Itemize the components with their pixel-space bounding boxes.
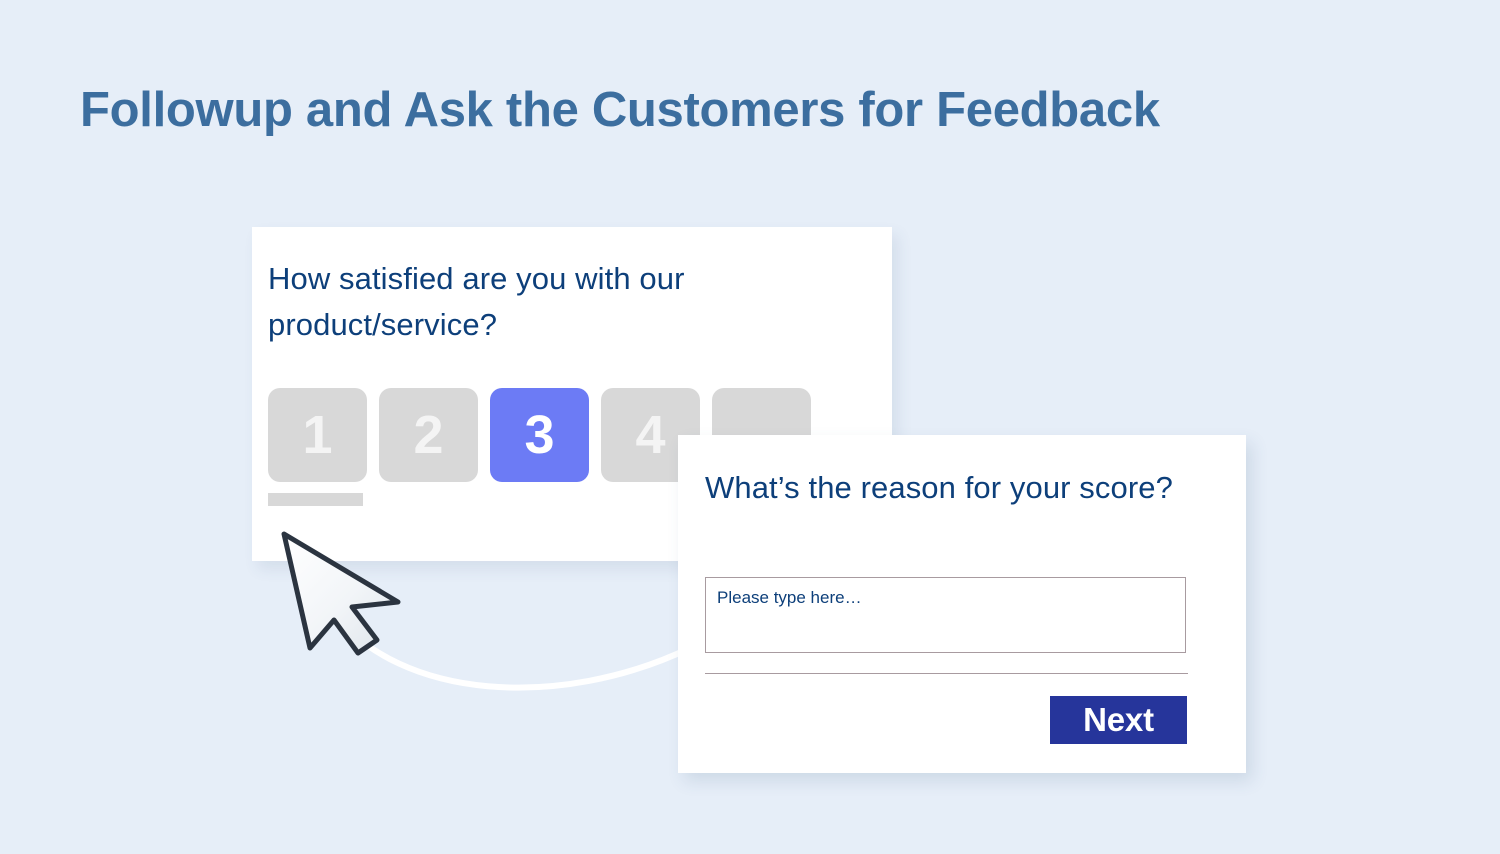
next-button[interactable]: Next — [1050, 696, 1187, 744]
reason-input[interactable] — [705, 577, 1186, 653]
rating-question-text: How satisfied are you with our product/s… — [268, 256, 858, 348]
card-divider — [705, 673, 1188, 674]
rating-option-1[interactable]: 1 — [268, 388, 367, 482]
page-title: Followup and Ask the Customers for Feedb… — [80, 82, 1440, 138]
slide-canvas: Followup and Ask the Customers for Feedb… — [0, 0, 1500, 854]
reason-card: What’s the reason for your score? Next — [678, 435, 1246, 773]
reason-question-text: What’s the reason for your score? — [705, 465, 1175, 511]
rating-scale-low-label — [268, 493, 363, 506]
rating-option-2[interactable]: 2 — [379, 388, 478, 482]
rating-option-3[interactable]: 3 — [490, 388, 589, 482]
